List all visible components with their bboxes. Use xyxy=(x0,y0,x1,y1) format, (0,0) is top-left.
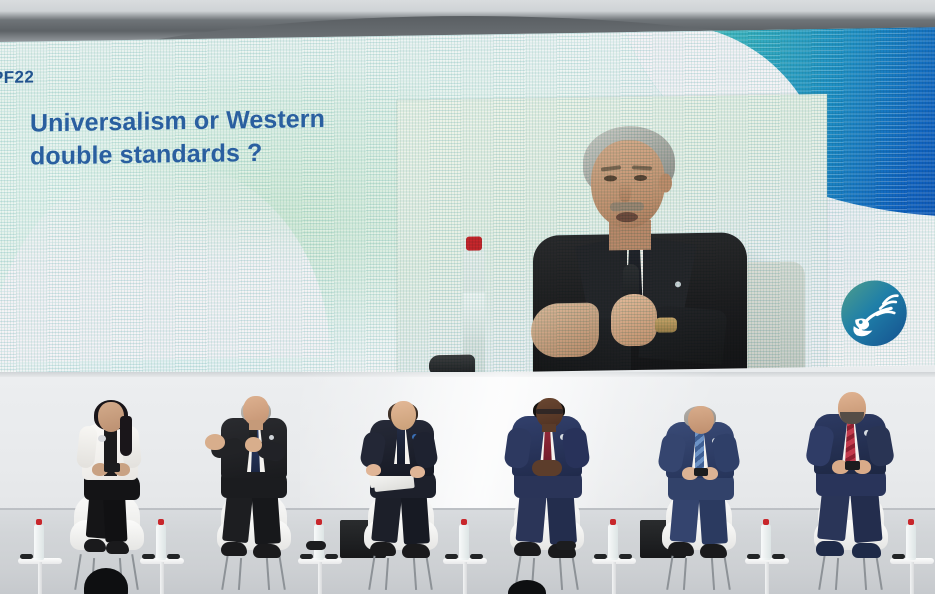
shoe xyxy=(84,539,106,552)
floor-microphone xyxy=(306,541,326,550)
shoe xyxy=(221,542,247,556)
slide-hashtag: PF22 xyxy=(0,67,34,88)
led-video-wall: PF22 Universalism or Western double stan… xyxy=(0,27,935,380)
panelist-3-body xyxy=(352,390,456,560)
panelist-1-body xyxy=(62,400,158,560)
shoe xyxy=(106,541,129,554)
shoe xyxy=(253,544,281,558)
panelist-6-body xyxy=(800,386,908,560)
mobile-phone[interactable] xyxy=(694,468,708,476)
hand-holding-microphone xyxy=(245,437,262,452)
table-device xyxy=(325,554,338,559)
striped-necktie xyxy=(695,432,704,468)
table-device xyxy=(619,554,632,559)
shoe xyxy=(370,542,396,556)
stage-backdrop-wall xyxy=(0,372,935,594)
hand-right xyxy=(410,466,425,478)
brooch xyxy=(98,435,106,442)
table-device xyxy=(772,554,785,559)
table-device xyxy=(167,554,180,559)
lapel-pin xyxy=(269,435,274,440)
panelist-2-body xyxy=(205,390,309,560)
neck xyxy=(542,424,556,432)
water-bottle xyxy=(608,524,618,560)
slide-title: Universalism or Western double standards… xyxy=(30,103,325,174)
table-device xyxy=(20,554,33,559)
shoe xyxy=(402,544,430,558)
water-bottle xyxy=(34,524,44,560)
hand-left xyxy=(366,464,381,476)
water-bottle xyxy=(459,524,469,560)
conference-stage-photograph: PF22 Universalism or Western double stan… xyxy=(0,0,935,594)
mobile-phone[interactable] xyxy=(104,463,120,472)
panelist-4 xyxy=(498,384,602,594)
shoe xyxy=(514,542,541,556)
paris-peace-forum-logo-icon xyxy=(835,274,913,353)
panelist-3 xyxy=(352,384,456,594)
ponytail xyxy=(120,416,132,456)
head-bowed xyxy=(688,406,714,434)
shoe xyxy=(700,544,727,558)
arm-right xyxy=(561,427,590,470)
shoe xyxy=(668,542,694,556)
head-bowed xyxy=(391,401,416,430)
water-bottle xyxy=(761,524,771,560)
panelist-4-body xyxy=(498,388,602,560)
mobile-phone[interactable] xyxy=(845,461,860,470)
glasses-icon xyxy=(536,409,563,414)
floor-microphone xyxy=(556,541,576,550)
neck xyxy=(249,420,263,430)
necktie xyxy=(397,428,405,464)
sneaker xyxy=(816,541,844,556)
panelist-5 xyxy=(650,388,754,594)
slide-title-line-2: double standards ? xyxy=(30,136,325,174)
panelist-5-body xyxy=(650,394,754,560)
sneaker xyxy=(852,543,881,558)
feed-led-pixel-grid xyxy=(397,94,827,376)
panelist-2 xyxy=(205,384,309,594)
slide-title-line-1: Universalism or Western xyxy=(30,103,325,141)
open-hand xyxy=(205,434,225,450)
live-camera-feed-panel xyxy=(397,94,827,376)
clasped-hands xyxy=(532,460,562,476)
panelist-1 xyxy=(62,394,158,594)
table-device xyxy=(470,554,483,559)
panelist-6 xyxy=(800,382,908,594)
